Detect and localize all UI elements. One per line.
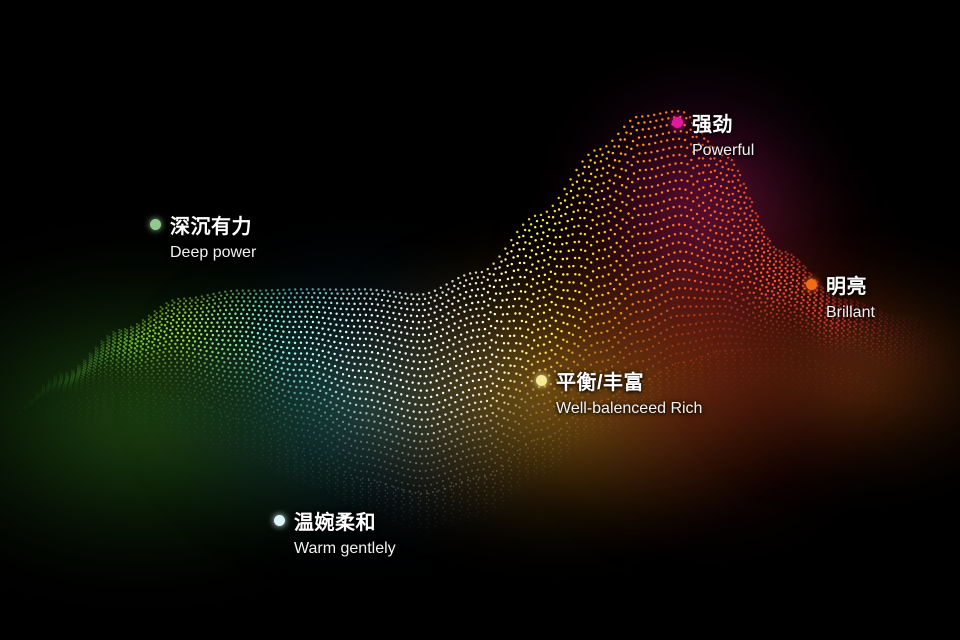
label-cn-powerful: 强劲 bbox=[692, 108, 733, 137]
label-warm-gently[interactable]: 温婉柔和 Warm gentlely bbox=[274, 506, 396, 558]
label-cn-deep-power: 深沉有力 bbox=[170, 210, 252, 239]
label-well-balanced-rich[interactable]: 平衡/丰富 Well-balenceed Rich bbox=[536, 366, 702, 418]
label-cn-well-balanced-rich: 平衡/丰富 bbox=[556, 366, 644, 395]
marker-dot-brillant bbox=[806, 279, 817, 290]
label-en-warm-gently: Warm gentlely bbox=[294, 540, 396, 558]
label-en-deep-power: Deep power bbox=[170, 244, 256, 262]
marker-dot-well-balanced-rich bbox=[536, 375, 547, 386]
label-cn-warm-gently: 温婉柔和 bbox=[294, 506, 376, 535]
label-en-well-balanced-rich: Well-balenceed Rich bbox=[556, 400, 702, 418]
label-cn-brillant: 明亮 bbox=[826, 270, 867, 299]
label-en-brillant: Brillant bbox=[826, 304, 875, 322]
label-deep-power[interactable]: 深沉有力 Deep power bbox=[150, 210, 256, 262]
label-powerful[interactable]: 强劲 Powerful bbox=[672, 108, 754, 160]
marker-dot-warm-gently bbox=[274, 515, 285, 526]
marker-dot-deep-power bbox=[150, 219, 161, 230]
label-en-powerful: Powerful bbox=[692, 142, 754, 160]
marker-dot-powerful bbox=[672, 117, 683, 128]
scene-canvas: 深沉有力 Deep power 强劲 Powerful 明亮 Brillant … bbox=[0, 0, 960, 640]
label-brillant[interactable]: 明亮 Brillant bbox=[806, 270, 875, 322]
